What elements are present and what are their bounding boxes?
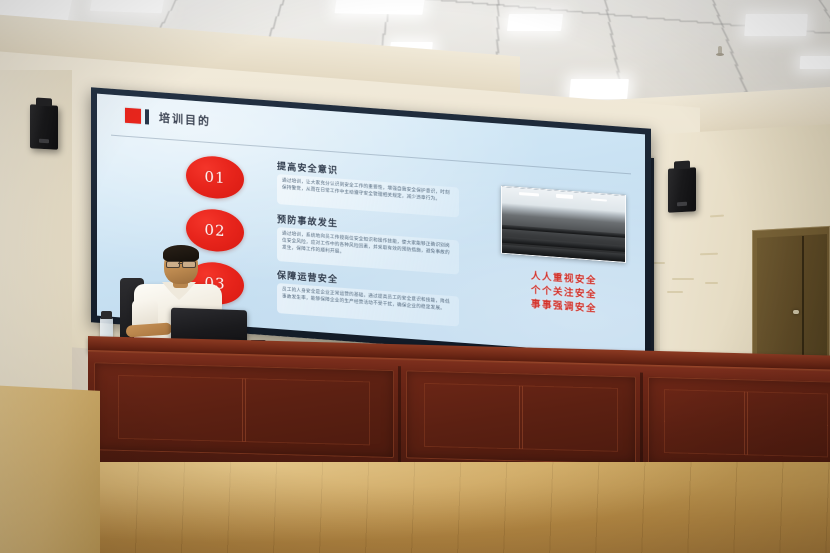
slide-photo	[501, 186, 626, 263]
speaker-mount	[674, 161, 690, 170]
eyeglasses-bridge-icon	[178, 263, 182, 264]
wooden-door[interactable]	[757, 234, 827, 364]
ceiling-light-panel	[507, 14, 563, 31]
wall-scuff	[667, 291, 683, 293]
speaker-mount	[36, 98, 52, 107]
slide-number-label: 01	[204, 168, 225, 188]
title-navy-bar-icon	[145, 109, 149, 124]
eyeglasses-right-lens-icon	[182, 261, 196, 268]
floor-reflection	[0, 462, 830, 553]
title-red-square-icon	[125, 107, 141, 123]
slide-section-body-1: 通过培训，让大家充分认识到安全工作的重要性，增强自我安全保护意识，时刻保持警觉，…	[277, 174, 459, 218]
ceiling-light-panel	[569, 79, 629, 99]
wall-speaker-right	[668, 167, 696, 212]
wall-scuff	[672, 278, 694, 280]
podium-diamond-inlay	[118, 375, 370, 445]
slide-title-block: 培训目的	[125, 107, 211, 129]
podium-diamond-inlay	[424, 383, 617, 451]
slide-section-body-2: 通过培训，系统地向员工传授岗位安全知识和操作技能，使大家能够正确识别岗位安全风险…	[277, 227, 459, 275]
wall-speaker-left	[30, 104, 58, 149]
conference-room-photo: 培训目的 01 02 03 提高安全意识 通过培训，让大家充分认识到安全工作的重…	[0, 0, 830, 553]
slide-number-badge-01: 01	[186, 154, 244, 200]
speaker-logo	[677, 202, 687, 207]
ceiling-light-panel	[335, 0, 426, 15]
ceiling-light-panel	[744, 14, 808, 36]
podium-panel	[94, 362, 394, 458]
speaker-logo	[39, 139, 49, 144]
slide-slogan: 人人重视安全 个个关注安全 事事强调安全	[501, 268, 627, 319]
slide-number-badge-02: 02	[186, 207, 244, 253]
bottle-cap	[101, 311, 112, 319]
slide-number-label: 02	[204, 221, 225, 241]
ceiling-light-panel	[800, 56, 830, 69]
slide-title: 培训目的	[159, 109, 211, 129]
podium-panel	[648, 377, 830, 470]
podium-panel-seam	[640, 373, 643, 469]
sprinkler-head	[718, 46, 722, 55]
podium-panel-seam	[398, 366, 401, 462]
wood-floor-left	[0, 385, 100, 553]
podium-diamond-inlay	[664, 389, 829, 457]
door-seam	[802, 236, 804, 358]
presenter-hair	[163, 245, 199, 262]
podium-panel	[406, 370, 636, 464]
wood-floor	[0, 462, 830, 553]
door-handle[interactable]	[793, 310, 799, 314]
wall-scuff	[705, 282, 718, 284]
slide-section-body-3: 员工的人身安全是企业正常运营的基础，通过提高员工的安全意识和技能，降低事故发生率…	[277, 283, 459, 327]
